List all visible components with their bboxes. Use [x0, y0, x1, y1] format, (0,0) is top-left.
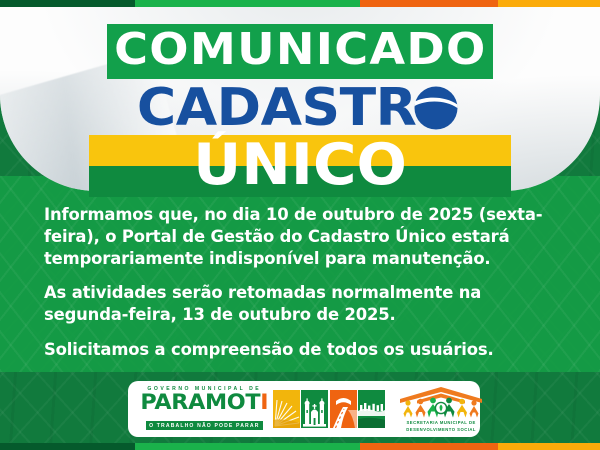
top-bar-segment-orange [360, 0, 498, 7]
panel-church-icon [301, 390, 328, 428]
title-unico: ÚNICO [81, 135, 520, 197]
title-comunicado: COMUNICADO [114, 28, 486, 72]
cadastro-row: CADASTR [0, 82, 600, 134]
body-paragraph-3: Solicitamos a compreensão de todos os us… [44, 339, 564, 361]
footer-logo-card: GOVERNO MUNICIPAL DE PARAMOTI O TRABALHO… [128, 381, 480, 437]
paramoti-wordmark-accent: I [260, 390, 268, 414]
panel-sun-icon [273, 390, 300, 428]
logo-paramoti: GOVERNO MUNICIPAL DE PARAMOTI O TRABALHO… [138, 386, 265, 431]
panel-road-icon [330, 390, 357, 428]
top-color-bar [0, 0, 600, 7]
top-bar-segment-yellow [498, 0, 600, 7]
secretaria-line-1: SECRETARIA MUNICIPAL DE [395, 420, 487, 426]
panel-landscape-icon [358, 390, 385, 428]
body-paragraph-1: Informamos que, no dia 10 de outubro de … [44, 204, 564, 269]
body-paragraph-2: As atividades serão retomadas normalment… [44, 282, 564, 326]
globe-o-icon [413, 85, 459, 131]
city-emblem [273, 390, 386, 428]
announcement-poster: COMUNICADO CADASTR ÚNICO Informamos que,… [0, 0, 600, 450]
body-copy: Informamos que, no dia 10 de outubro de … [44, 204, 564, 361]
logo-secretaria: SECRETARIA MUNICIPAL DE DESENVOLVIMENTO … [395, 386, 487, 432]
top-bar-segment-dark-green [0, 0, 135, 7]
bottom-bar-segment-orange [360, 443, 498, 450]
family-house-icon [395, 386, 487, 419]
unico-band-wrap: ÚNICO [0, 135, 600, 197]
bottom-color-bar [0, 443, 600, 450]
secretaria-line-2: DESENVOLVIMENTO SOCIAL [395, 427, 487, 433]
paramoti-wordmark-main: PARAMOT [140, 390, 260, 414]
top-bar-segment-green [135, 0, 360, 7]
comunicado-banner: COMUNICADO [107, 24, 494, 79]
unico-banner: ÚNICO [89, 135, 511, 197]
title-stack: COMUNICADO CADASTR ÚNICO [0, 24, 600, 197]
paramoti-wordmark: PARAMOTI [140, 392, 268, 413]
title-cadastro: CADASTR [137, 82, 416, 134]
bottom-bar-segment-dark-green [0, 443, 135, 450]
bottom-bar-segment-yellow [498, 443, 600, 450]
paramoti-tagline: O TRABALHO NÃO PODE PARAR [146, 421, 262, 430]
bottom-bar-segment-green [135, 443, 360, 450]
